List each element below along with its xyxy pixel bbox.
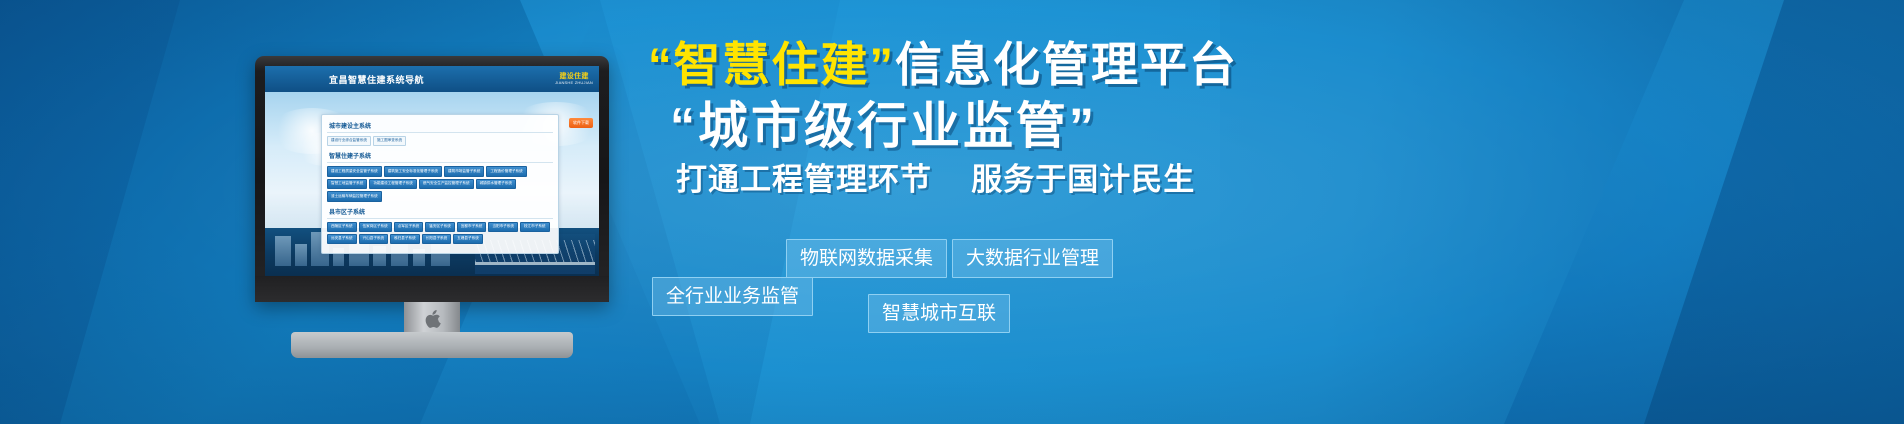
section-title-main-system: 城市建设主系统 (327, 119, 553, 133)
headline-line-1-highlight: “智慧住建” (648, 38, 895, 91)
portal-chip[interactable]: 兴山县子系统 (359, 234, 389, 244)
portal-chip[interactable]: 点军区子系统 (394, 222, 424, 232)
portal-chip[interactable]: 建设行业综合监管系统 (327, 136, 371, 146)
portal-chip[interactable]: 长阳县子系统 (422, 234, 452, 244)
portal-chip[interactable]: 施工图审查系统 (373, 136, 406, 146)
chip-group-county-subsystems: 西陵区子系统 伍家岗区子系统 点军区子系统 猛安区子系统 宜都市子系统 当阳市子… (327, 222, 553, 245)
portal-chip[interactable]: 宜都市子系统 (457, 222, 487, 232)
portal-chip[interactable]: 枝江市子系统 (520, 222, 550, 232)
subtitle-left: 打通工程管理环节 (676, 162, 932, 197)
apple-logo-icon (424, 310, 441, 329)
portal-chip[interactable]: 猛安区子系统 (425, 222, 455, 232)
subtitle-right: 服务于国计民生 (971, 162, 1195, 197)
portal-chip[interactable]: 建筑施工安全标准化管理子系统 (384, 166, 442, 176)
feature-tag-bigdata[interactable]: 大数据行业管理 (952, 239, 1113, 278)
portal-chip[interactable]: 工程造价管理子系统 (486, 166, 526, 176)
portal-chip[interactable]: 建筑市场监管子系统 (444, 166, 484, 176)
portal-logo-cn: 建设住建 (559, 73, 588, 80)
imac-mockup: 宜昌智慧住建系统导航 建设住建 JIANSHE ZHUJIAN (255, 56, 609, 358)
portal-header: 宜昌智慧住建系统导航 建设住建 JIANSHE ZHUJIAN (265, 66, 599, 92)
monitor-stand-base (291, 332, 573, 358)
section-title-county-subsystems: 县市区子系统 (327, 205, 553, 219)
portal-chip[interactable]: 智慧工地监管子系统 (327, 179, 367, 189)
headline-line-1: “智慧住建”信息化管理平台 (648, 40, 1648, 91)
portal-chip[interactable]: 建设工程质量安全监管子系统 (327, 166, 382, 176)
chip-group-smart-subsystems: 建设工程质量安全监管子系统 建筑施工安全标准化管理子系统 建筑市场监管子系统 工… (327, 166, 553, 201)
portal-chip[interactable]: 五峰县子系统 (453, 234, 483, 244)
portal-chip[interactable]: 西陵区子系统 (327, 222, 357, 232)
portal-chip[interactable]: 当阳市子系统 (488, 222, 518, 232)
portal-chip[interactable]: 城镇供水管理子系统 (476, 179, 516, 189)
portal-title: 宜昌智慧住建系统导航 (329, 73, 424, 86)
portal-chip[interactable]: 远安县子系统 (327, 234, 357, 244)
portal-logo-en: JIANSHE ZHUJIAN (555, 81, 593, 85)
promo-banner: 宜昌智慧住建系统导航 建设住建 JIANSHE ZHUJIAN (0, 0, 1904, 424)
monitor-bezel: 宜昌智慧住建系统导航 建设住建 JIANSHE ZHUJIAN (255, 56, 609, 302)
monitor-chin (255, 276, 609, 302)
portal-chip[interactable]: 秭归县子系统 (390, 234, 420, 244)
feature-tag-industry-supervision[interactable]: 全行业业务监管 (652, 277, 813, 316)
software-download-button[interactable]: 软件下载 (569, 118, 593, 128)
feature-tag-smart-city[interactable]: 智慧城市互联 (868, 294, 1010, 333)
feature-tag-iot[interactable]: 物联网数据采集 (786, 239, 947, 278)
monitor-screen: 宜昌智慧住建系统导航 建设住建 JIANSHE ZHUJIAN (265, 66, 599, 276)
portal-chip[interactable]: 燃气安全生产监控管理子系统 (419, 179, 474, 189)
chip-group-main-system: 建设行业综合监管系统 施工图审查系统 (327, 136, 553, 146)
headline-line-2: “城市级行业监管” (648, 99, 1648, 153)
section-title-smart-subsystems: 智慧住建子系统 (327, 149, 553, 163)
portal-body: 软件下载 城市建设主系统 建设行业综合监管系统 施工图审查系统 智慧住建子系统 … (265, 92, 599, 276)
headline-subtitle: 打通工程管理环节 服务于国计民生 (648, 163, 1648, 197)
portal-navigation-panel: 城市建设主系统 建设行业综合监管系统 施工图审查系统 智慧住建子系统 建设工程质… (321, 114, 559, 254)
headline-block: “智慧住建”信息化管理平台 “城市级行业监管” 打通工程管理环节 服务于国计民生 (648, 40, 1648, 197)
portal-chip[interactable]: 功能建设工程管理子系统 (369, 179, 417, 189)
portal-chip[interactable]: 渣土运输车辆监控管理子系统 (327, 191, 382, 201)
headline-line-1-rest: 信息化管理平台 (895, 38, 1238, 91)
portal-chip[interactable]: 伍家岗区子系统 (359, 222, 392, 232)
portal-logo: 建设住建 JIANSHE ZHUJIAN (555, 73, 593, 85)
